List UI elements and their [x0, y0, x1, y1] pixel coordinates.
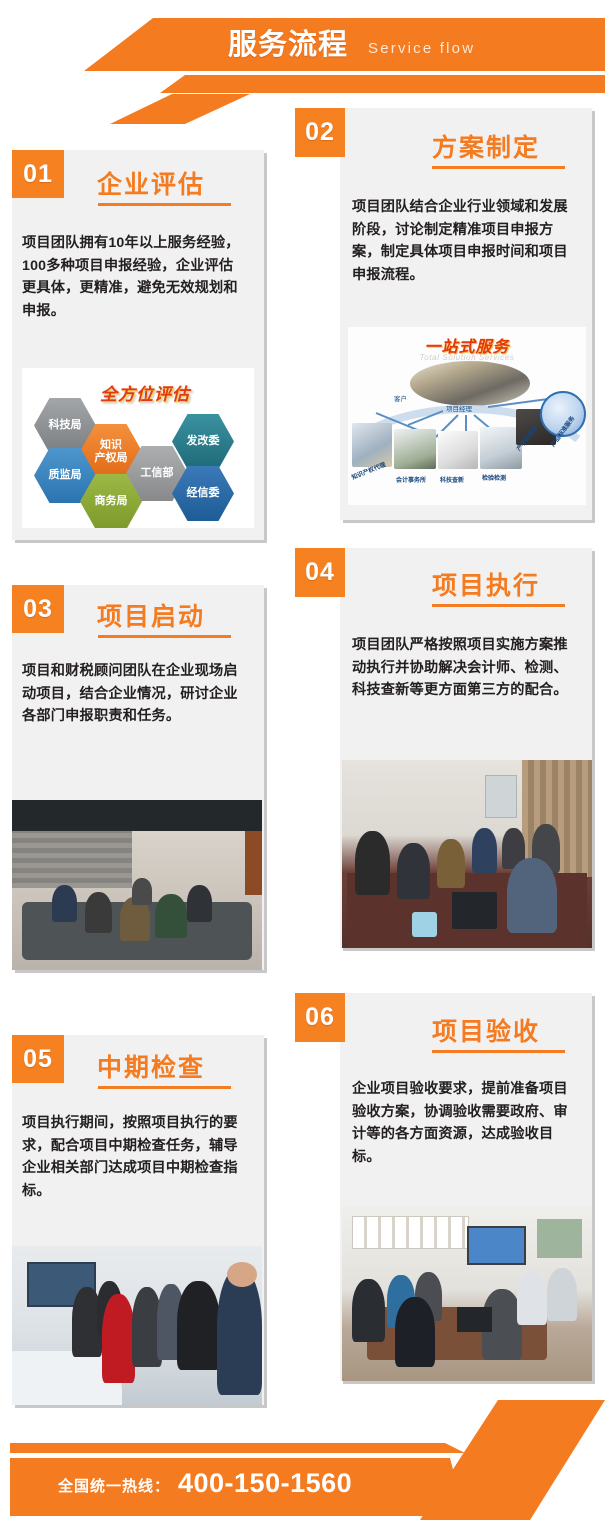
oss-thumb-search [438, 431, 478, 469]
oss-label-accounting: 会计事务所 [396, 475, 426, 484]
step-badge-03: 03 [12, 585, 64, 633]
step-body-01: 项目团队拥有10年以上服务经验，100多种项目申报经验，企业评估更具体，更精准，… [22, 232, 244, 322]
step-body-02: 项目团队结合企业行业领域和发展阶段，讨论制定精准项目申报方案，制定具体项目申报时… [352, 196, 580, 286]
hex-diagram-title: 全方位评估 [100, 380, 190, 405]
step-badge-01: 01 [12, 150, 64, 198]
hex-node-label: 经信委 [187, 487, 220, 500]
step-title-01: 企业评估 [97, 165, 205, 201]
oss-label-testing: 检验检测 [482, 473, 506, 482]
hex-node-label: 发改委 [187, 435, 220, 448]
hex-node-label: 科技局 [49, 419, 82, 432]
step-title-05: 中期检查 [97, 1048, 205, 1084]
step-body-05: 项目执行期间，按照项目执行的要求，配合项目中期检查任务，辅导企业相关部门达成项目… [22, 1112, 246, 1202]
step-title-03: 项目启动 [97, 597, 205, 633]
hex-node-label: 知识 产权局 [95, 439, 128, 465]
step-title-04: 项目执行 [432, 566, 540, 602]
all-round-assessment-hex-diagram: 全方位评估 科技局 知识 产权局 发改委 质监局 工信部 商务局 经信委 [22, 368, 254, 528]
step-title-rule-05 [98, 1086, 231, 1089]
hex-node-fagaiwei: 发改委 [172, 414, 234, 469]
header-orange-stripe [0, 75, 605, 93]
step-title-rule-04 [432, 604, 565, 607]
step-title-rule-06 [432, 1050, 565, 1053]
step-badge-02: 02 [295, 108, 345, 157]
step-body-04: 项目团队严格按照项目实施方案推动执行并协助解决会计师、检测、科技查新等更方面第三… [352, 634, 580, 702]
oss-node-customer: 客户 [394, 393, 407, 403]
page-footer: 全国统一热线： 400-150-1560 [0, 1410, 605, 1538]
step-body-06: 企业项目验收要求，提前准备项目验收方案，协调验收需要政府、审计等的各方面资源，达… [352, 1078, 580, 1168]
oss-thumb-accounting [394, 429, 436, 469]
oss-label-search: 科技查新 [440, 475, 464, 484]
step-title-06: 项目验收 [432, 1012, 540, 1048]
oss-thumb-ip [352, 423, 392, 467]
conference-room-meeting-photo [12, 800, 262, 970]
hex-node-label: 质监局 [49, 469, 82, 482]
step-badge-05: 05 [12, 1035, 64, 1083]
hotline-phone[interactable]: 400-150-1560 [178, 1468, 352, 1499]
step-title-rule-01 [98, 203, 231, 206]
step-badge-04: 04 [295, 548, 345, 597]
hex-node-label: 工信部 [141, 467, 174, 480]
page-title: 服务流程 [228, 26, 348, 64]
acceptance-meeting-photo [342, 1205, 592, 1381]
hotline-label: 全国统一热线： [58, 1475, 170, 1496]
step-body-03: 项目和财税顾问团队在企业现场启动项目，结合企业情况，研讨企业各部门申报职责和任务… [22, 660, 246, 728]
hex-node-label: 商务局 [95, 495, 128, 508]
one-stop-service-diagram: 一站式服务 Total Solution Services 客户 项目经理 知识… [348, 327, 586, 505]
page-header: 服务流程 Service flow [0, 0, 605, 105]
step-badge-06: 06 [295, 993, 345, 1042]
step-title-rule-03 [98, 635, 231, 638]
page-subtitle: Service flow [368, 38, 475, 60]
step-title-02: 方案制定 [432, 128, 540, 164]
showroom-visit-photo [12, 1246, 262, 1405]
team-working-at-table-photo [342, 760, 592, 948]
step-title-rule-02 [432, 166, 565, 169]
oss-node-project-manager: 项目经理 [446, 403, 472, 413]
